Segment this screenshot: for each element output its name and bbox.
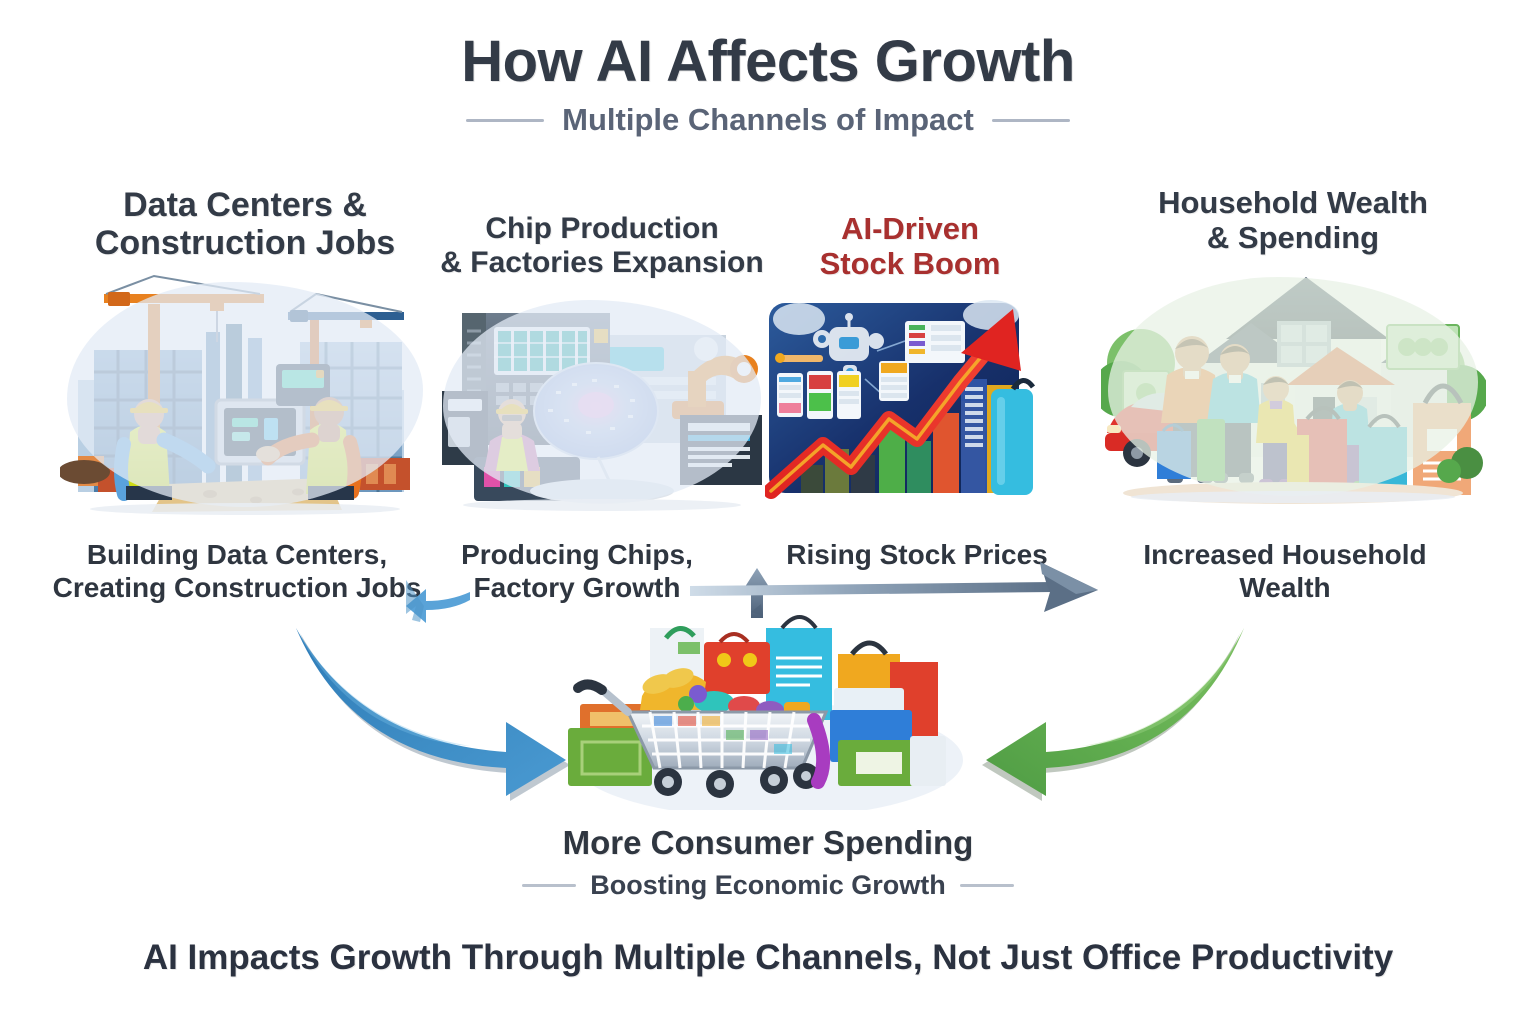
ui-card-left (777, 371, 861, 419)
center-title: More Consumer Spending (508, 824, 1028, 862)
page-title: How AI Affects Growth (0, 28, 1536, 95)
caption-line1: Producing Chips, (452, 538, 702, 571)
panel-data-centers: Data Centers & Construction Jobs (40, 186, 450, 517)
subtitle-rule-right (992, 119, 1070, 122)
caption-line2: Factory Growth (452, 571, 702, 604)
panel-title-line2: Construction Jobs (40, 224, 450, 262)
caption-line2: Wealth (1110, 571, 1460, 604)
panel-title-line2: & Spending (1098, 221, 1488, 256)
panel-title-line1: AI-Driven (760, 212, 1060, 247)
caption-row: Building Data Centers, Creating Construc… (0, 530, 1536, 620)
ui-card-mid (879, 361, 909, 401)
family-house-illustration (1098, 267, 1488, 505)
caption-line2: Creating Construction Jobs (52, 571, 422, 604)
caption-rising-stock-prices: Rising Stock Prices (782, 538, 1052, 571)
caption-producing-chips: Producing Chips, Factory Growth (452, 538, 702, 604)
panel-title-stock-boom: AI-Driven Stock Boom (760, 212, 1060, 281)
center-subtitle: Boosting Economic Growth (590, 870, 946, 901)
center-block: More Consumer Spending Boosting Economic… (508, 610, 1028, 901)
caption-line1: Building Data Centers, (52, 538, 422, 571)
infographic-canvas: How AI Affects Growth Multiple Channels … (0, 0, 1536, 1024)
panel-chip-production: Chip Production & Factories Expansion (432, 212, 772, 513)
blob-backdrop (67, 282, 422, 507)
gift-box-red (704, 642, 770, 694)
shopping-cart-illustration (538, 610, 998, 810)
footer-statement: AI Impacts Growth Through Multiple Chann… (0, 938, 1536, 978)
panel-title-household-wealth: Household Wealth & Spending (1098, 186, 1488, 255)
center-subtitle-row: Boosting Economic Growth (508, 870, 1028, 901)
panel-title-line2: Stock Boom (760, 247, 1060, 282)
center-rule-left (522, 884, 576, 887)
panel-title-line1: Household Wealth (1098, 186, 1488, 221)
ui-card-top-right (905, 321, 965, 363)
semiconductor-fab-illustration (432, 291, 772, 513)
subtitle-rule-left (466, 119, 544, 122)
center-rule-right (960, 884, 1014, 887)
caption-building-data-centers: Building Data Centers, Creating Construc… (52, 538, 422, 604)
panel-household-wealth: Household Wealth & Spending (1098, 186, 1488, 505)
stock-chart-illustration (760, 295, 1060, 507)
caption-line1: Increased Household (1110, 538, 1460, 571)
stock-scene-svg (765, 295, 1055, 507)
panel-title-line1: Data Centers & (40, 186, 450, 224)
panel-title-line1: Chip Production (432, 212, 772, 246)
subtitle-row: Multiple Channels of Impact (0, 102, 1536, 138)
panel-title-data-centers: Data Centers & Construction Jobs (40, 186, 450, 262)
panel-stock-boom: AI-Driven Stock Boom (760, 212, 1060, 507)
caption-line1: Rising Stock Prices (782, 538, 1052, 571)
page-subtitle: Multiple Channels of Impact (562, 102, 974, 138)
blob-backdrop (1108, 277, 1478, 496)
cart-scene-svg (538, 610, 998, 810)
panel-title-chip-production: Chip Production & Factories Expansion (432, 212, 772, 279)
caption-increased-household-wealth: Increased Household Wealth (1110, 538, 1460, 604)
construction-site-illustration (40, 272, 450, 517)
panel-title-line2: & Factories Expansion (432, 246, 772, 280)
